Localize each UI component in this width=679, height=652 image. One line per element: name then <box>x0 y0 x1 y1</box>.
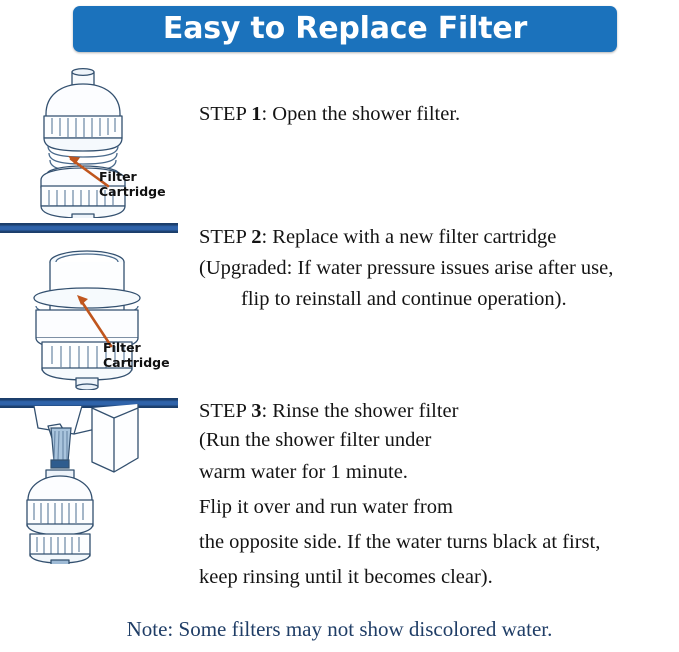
header-banner: Easy to Replace Filter <box>73 6 617 52</box>
footer-note: Note: Some filters may not show discolor… <box>0 617 679 642</box>
step-2-prefix: STEP <box>199 226 251 248</box>
step-2-line-2: (Upgraded: If water pressure issues aris… <box>199 253 613 284</box>
step-3-line-2: (Run the shower filter under <box>199 426 600 455</box>
step-2-text: STEP 2: Replace with a new filter cartri… <box>199 222 613 315</box>
step-3-number: 3 <box>251 400 261 422</box>
step-3-line-1: STEP 3: Rinse the shower filter <box>199 397 600 426</box>
step-1-prefix: STEP <box>199 103 251 125</box>
step-2-line-1: STEP 2: Replace with a new filter cartri… <box>199 222 613 253</box>
step-3-line-3: warm water for 1 minute. <box>199 455 600 490</box>
shower-filter-mounted-icon <box>8 404 188 564</box>
step-3-text: STEP 3: Rinse the shower filter (Run the… <box>199 397 600 595</box>
step-1-line-1: STEP 1: Open the shower filter. <box>199 100 460 128</box>
filter-cartridge-label-2: Filter Cartridge <box>103 340 170 370</box>
step-3-line-6: keep rinsing until it becomes clear). <box>199 560 600 595</box>
step-1-number: 1 <box>251 103 261 125</box>
step-2-line-3: flip to reinstall and continue operation… <box>199 284 613 315</box>
step-3-body: : Rinse the shower filter <box>261 400 458 422</box>
page-title: Easy to Replace Filter <box>163 14 527 44</box>
step-3-line-5: the opposite side. If the water turns bl… <box>199 525 600 560</box>
step-3-line-4: Flip it over and run water from <box>199 490 600 525</box>
step-2-number: 2 <box>251 226 261 248</box>
step-1-text: STEP 1: Open the shower filter. <box>199 100 460 128</box>
step-2-body: : Replace with a new filter cartridge <box>261 226 556 248</box>
step-1-body: : Open the shower filter. <box>261 103 460 125</box>
filter-cartridge-label-1: Filter Cartridge <box>99 169 166 199</box>
step-3-prefix: STEP <box>199 400 251 422</box>
shower-filter-mounted-diagram <box>8 404 188 564</box>
divider-bar-1 <box>0 223 178 233</box>
